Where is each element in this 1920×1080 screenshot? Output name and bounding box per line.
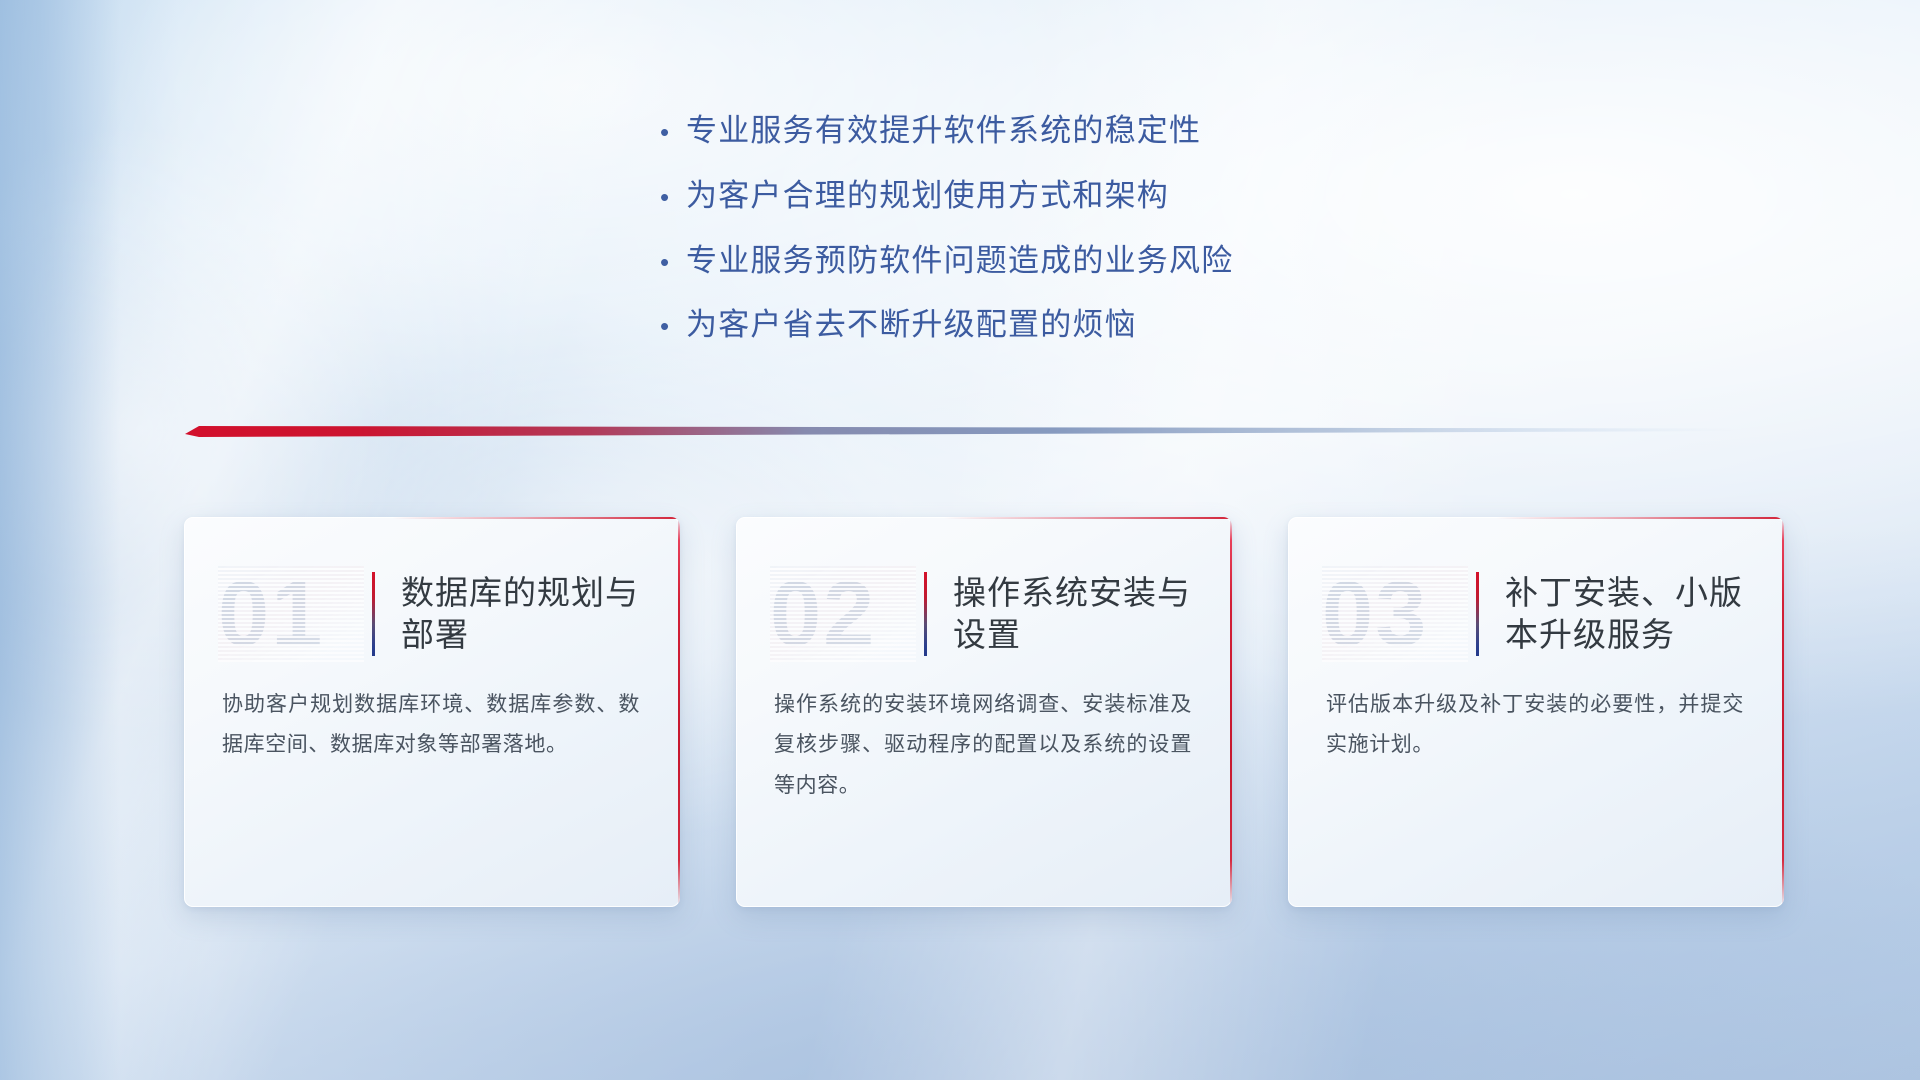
card-body-text: 评估版本升级及补丁安装的必要性，并提交实施计划。 [1288, 673, 1784, 766]
bullet-text: 专业服务有效提升软件系统的稳定性 [686, 112, 1201, 151]
card-number-watermark: 02 [770, 566, 916, 662]
section-divider [185, 418, 1740, 444]
card-number-watermark: 01 [218, 566, 364, 662]
bullet-text: 专业服务预防软件问题造成的业务风险 [686, 242, 1233, 281]
card-title: 操作系统安装与设置 [953, 572, 1203, 656]
card-title: 补丁安装、小版本升级服务 [1505, 572, 1755, 656]
list-item: • 专业服务预防软件问题造成的业务风险 [660, 242, 1233, 281]
bullet-text: 为客户省去不断升级配置的烦恼 [686, 306, 1137, 345]
bullet-text: 为客户合理的规划使用方式和架构 [686, 177, 1169, 216]
card-header: 01 数据库的规划与部署 [184, 517, 680, 673]
card-title-divider [372, 572, 375, 656]
slide-canvas: • 专业服务有效提升软件系统的稳定性 • 为客户合理的规划使用方式和架构 • 专… [0, 0, 1920, 1080]
benefits-bullet-list: • 专业服务有效提升软件系统的稳定性 • 为客户合理的规划使用方式和架构 • 专… [660, 112, 1233, 371]
card-body-text: 协助客户规划数据库环境、数据库参数、数据库空间、数据库对象等部署落地。 [184, 673, 680, 766]
service-card-grid: 01 数据库的规划与部署 协助客户规划数据库环境、数据库参数、数据库空间、数据库… [184, 517, 1784, 907]
card-title-divider [924, 572, 927, 656]
card-header: 03 补丁安装、小版本升级服务 [1288, 517, 1784, 673]
list-item: • 为客户省去不断升级配置的烦恼 [660, 306, 1233, 345]
bullet-dot-icon: • [660, 249, 686, 275]
card-body-text: 操作系统的安装环境网络调查、安装标准及复核步骤、驱动程序的配置以及系统的设置等内… [736, 673, 1232, 806]
card-number-text: 02 [770, 563, 876, 665]
card-title: 数据库的规划与部署 [401, 572, 651, 656]
bullet-dot-icon: • [660, 313, 686, 339]
bullet-dot-icon: • [660, 119, 686, 145]
service-card[interactable]: 01 数据库的规划与部署 协助客户规划数据库环境、数据库参数、数据库空间、数据库… [184, 517, 680, 907]
service-card[interactable]: 02 操作系统安装与设置 操作系统的安装环境网络调查、安装标准及复核步骤、驱动程… [736, 517, 1232, 907]
list-item: • 专业服务有效提升软件系统的稳定性 [660, 112, 1233, 151]
list-item: • 为客户合理的规划使用方式和架构 [660, 177, 1233, 216]
card-number-text: 01 [218, 563, 324, 665]
card-title-divider [1476, 572, 1479, 656]
card-header: 02 操作系统安装与设置 [736, 517, 1232, 673]
card-number-watermark: 03 [1322, 566, 1468, 662]
service-card[interactable]: 03 补丁安装、小版本升级服务 评估版本升级及补丁安装的必要性，并提交实施计划。 [1288, 517, 1784, 907]
card-number-text: 03 [1322, 563, 1428, 665]
bullet-dot-icon: • [660, 184, 686, 210]
